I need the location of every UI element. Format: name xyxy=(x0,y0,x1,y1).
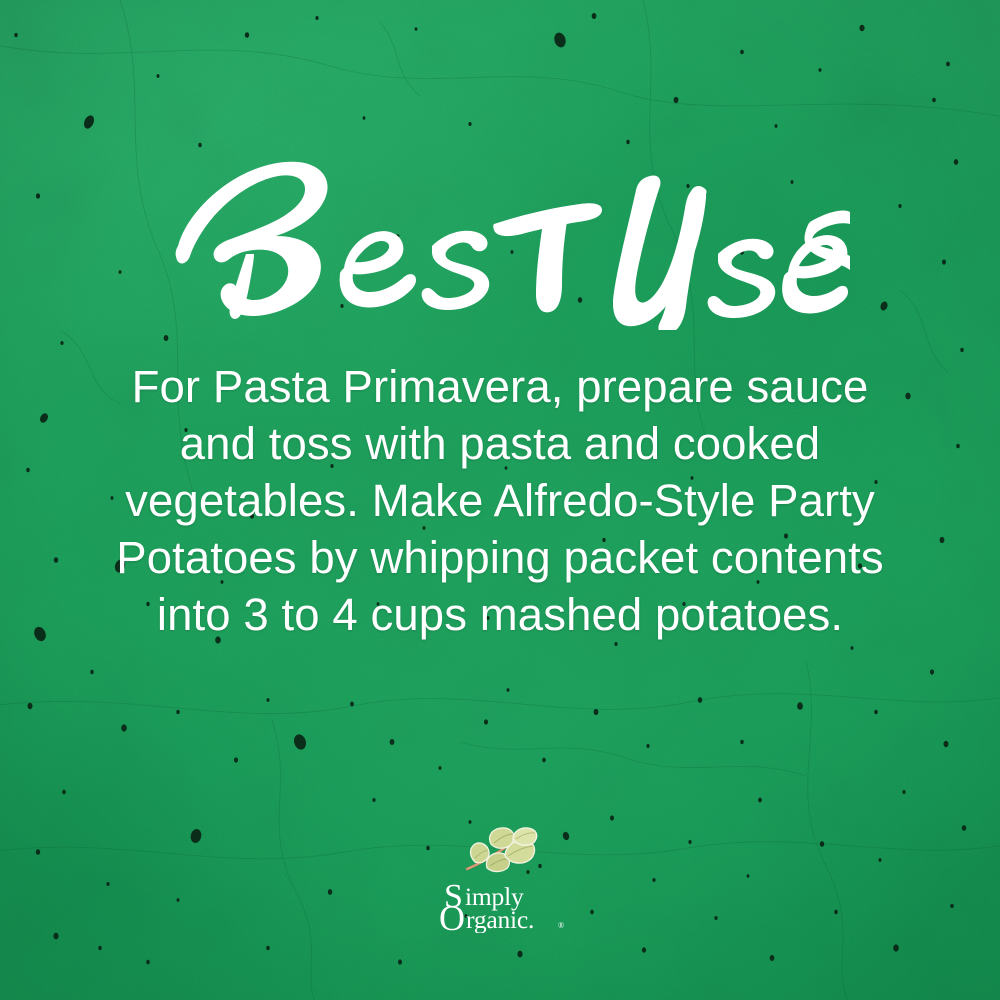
headline-best-uses: Best Uses xyxy=(0,150,1000,330)
card-content: Best Uses xyxy=(0,0,1000,1000)
svg-text:O: O xyxy=(439,898,465,933)
herb-leaf-sprig-icon xyxy=(461,826,539,874)
body-copy: For Pasta Primavera, prepare sauce and t… xyxy=(0,358,1000,643)
logo-wordmark: Simply Organic S imply O rganic. ® xyxy=(434,875,566,933)
best-uses-card: Best Uses xyxy=(0,0,1000,1000)
simply-organic-logo: Simply Organic S imply O rganic. ® xyxy=(0,826,1000,933)
svg-text:®: ® xyxy=(558,921,564,930)
logo-wordmark-artwork: S imply O rganic. ® xyxy=(434,875,566,933)
headline-brush-script-artwork xyxy=(150,150,850,330)
svg-text:rganic.: rganic. xyxy=(466,905,534,933)
